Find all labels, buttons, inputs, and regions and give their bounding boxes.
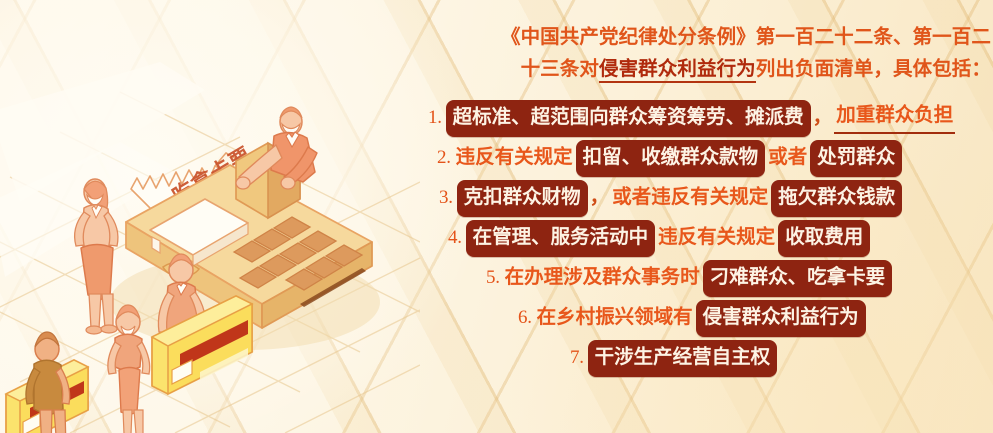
list-fragment-plain: 在办理涉及群众事务时 [503,264,702,292]
heading-line-2: 十三条对侵害群众利益行为列出负面清单，具体包括： [404,54,991,86]
list-fragment-plain: 违反有关规定 [656,224,777,252]
list-fragment-pill: 克扣群众财物 [457,180,588,217]
list-fragment-punct: ， [812,104,834,132]
page-heading: 《中国共产党纪律处分条例》第一百二十二条、第一百二 十三条对侵害群众利益行为列出… [404,22,993,86]
list-fragment-plain: 或者 [766,144,809,172]
list-item-number: 1. [428,104,442,132]
text-content: 《中国共产党纪律处分条例》第一百二十二条、第一百二 十三条对侵害群众利益行为列出… [404,22,993,422]
infographic-poster: 吃拿卡要 [0,0,993,433]
list-item: 2. 违反有关规定 扣留、收缴群众款物 或者 处罚群众 [437,138,993,178]
heading-prefix: 十三条对 [521,59,599,80]
list-fragment-pill: 收取费用 [778,220,870,257]
list-fragment-plain: 在乡村振兴领域有 [535,304,695,332]
list-fragment-punct: ， [589,184,611,212]
list-fragment-plain: 违反有关规定 [454,144,575,172]
list-item: 7. 干涉生产经营自主权 [570,338,993,378]
list-fragment-pill: 刁难群众、吃拿卡要 [703,260,893,297]
list-item: 4. 在管理、服务活动中 违反有关规定 收取费用 [448,218,993,258]
list-fragment-plain: 或者违反有关规定 [610,184,770,212]
list-item-number: 3. [439,184,453,212]
list-item: 5. 在办理涉及群众事务时 刁难群众、吃拿卡要 [486,258,993,298]
list-fragment-pill: 在管理、服务活动中 [466,220,656,257]
list-item: 1. 超标准、超范围向群众筹资筹劳、摊派费 ， 加重群众负担 [428,98,993,138]
list-fragment-pill: 干涉生产经营自主权 [588,340,778,377]
list-item-number: 4. [448,224,462,252]
list-item: 3. 克扣群众财物 ， 或者违反有关规定 拖欠群众钱款 [439,178,993,218]
list-fragment-underlined: 加重群众负担 [834,102,955,134]
list-fragment-pill: 侵害群众利益行为 [696,300,866,337]
list-item-number: 7. [570,344,584,372]
heading-line-1: 《中国共产党纪律处分条例》第一百二十二条、第一百二 [404,22,991,54]
heading-suffix: 列出负面清单，具体包括： [756,59,991,80]
negative-list: 1. 超标准、超范围向群众筹资筹劳、摊派费 ， 加重群众负担 2. 违反有关规定… [404,98,993,378]
list-item-number: 5. [486,264,500,292]
list-fragment-pill: 拖欠群众钱款 [771,180,902,217]
list-item-number: 2. [437,144,451,172]
list-fragment-pill: 处罚群众 [810,140,902,177]
list-item-number: 6. [518,304,532,332]
list-fragment-pill: 超标准、超范围向群众筹资筹劳、摊派费 [446,100,811,137]
list-fragment-pill: 扣留、收缴群众款物 [576,140,766,177]
illustration-scene: 吃拿卡要 [0,52,420,433]
heading-highlight: 侵害群众利益行为 [599,59,756,83]
list-item: 6. 在乡村振兴领域有 侵害群众利益行为 [518,298,993,338]
